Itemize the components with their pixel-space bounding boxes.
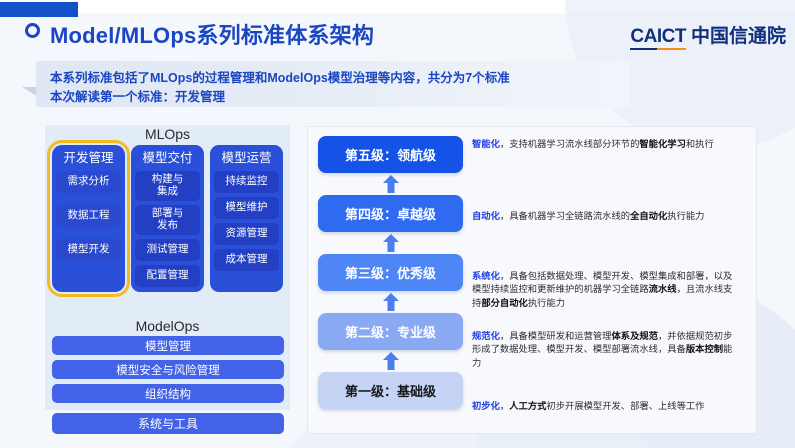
maturity-description-2: 规范化，具备模型研发和运营管理体系及规范，并依据规范初步形成了数据处理、模型开发… [472, 330, 740, 370]
subtitle-banner: 本系列标准包括了MLOps的过程管理和ModelOps模型治理等内容，共分为7个… [22, 61, 630, 107]
page-title: Model/MLOps系列标准体系架构 [50, 18, 374, 50]
mlops-item[interactable]: 配置管理 [135, 265, 200, 287]
maturity-level-4[interactable]: 第四级：卓越级 [318, 195, 463, 232]
mlops-item[interactable]: 成本管理 [214, 249, 279, 271]
maturity-levels: 第五级：领航级第四级：卓越级第三级：优秀级第二级：专业级第一级：基础级 [318, 136, 463, 409]
mlops-column-title: 开发管理 [56, 149, 121, 171]
mlops-item[interactable]: 资源管理 [214, 223, 279, 245]
caict-logo: CAICT 中国信通院 [630, 27, 786, 50]
mlops-column-3[interactable]: 模型运营持续监控模型维护资源管理成本管理 [210, 145, 283, 292]
mlops-item[interactable]: 持续监控 [214, 171, 279, 193]
subtitle-line-1: 本系列标准包括了MLOps的过程管理和ModelOps模型治理等内容，共分为7个… [50, 67, 510, 86]
slide: Model/MLOps系列标准体系架构 CAICT 中国信通院 本系列标准包括了… [0, 0, 795, 448]
mlops-item[interactable]: 测试管理 [135, 239, 200, 261]
logo-mark-text: CAICT [630, 27, 686, 50]
slide-header: Model/MLOps系列标准体系架构 CAICT 中国信通院 [0, 14, 795, 48]
logo-mark-label: CAICT [630, 26, 686, 47]
up-arrow-icon [318, 291, 463, 313]
mlops-item[interactable]: 部署与发布 [135, 205, 200, 235]
maturity-description-5: 智能化，支持机器学习流水线部分环节的智能化学习和执行 [472, 138, 740, 151]
system-tools-row[interactable]: 系统与工具 [52, 413, 284, 434]
maturity-level-1[interactable]: 第一级：基础级 [318, 372, 463, 409]
mlops-item[interactable]: 需求分析 [56, 171, 121, 193]
ring-bullet-icon [25, 23, 40, 38]
up-arrow-icon [318, 232, 463, 254]
maturity-level-2[interactable]: 第二级：专业级 [318, 313, 463, 350]
mlops-item[interactable]: 数据工程 [56, 205, 121, 227]
maturity-level-5[interactable]: 第五级：领航级 [318, 136, 463, 173]
mlops-column-title: 模型运营 [214, 149, 279, 171]
maturity-description-3: 系统化，具备包括数据处理、模型开发、模型集成和部署，以及模型持续监控和更新维护的… [472, 270, 740, 310]
up-arrow-icon [318, 350, 463, 372]
modelops-list: 模型管理模型安全与风险管理组织结构 [52, 336, 284, 408]
modelops-caption: ModelOps [45, 318, 290, 334]
logo-underline [630, 48, 686, 51]
mlops-caption: MLOps [45, 126, 290, 142]
modelops-item[interactable]: 组织结构 [52, 384, 284, 403]
maturity-description-1: 初步化，人工方式初步开展模型开发、部署、上线等工作 [472, 400, 740, 413]
mlops-column-title: 模型交付 [135, 149, 200, 171]
maturity-description-4: 自动化，具备机器学习全链路流水线的全自动化执行能力 [472, 210, 740, 223]
subtitle-line-2: 本次解读第一个标准：开发管理 [50, 86, 225, 105]
maturity-level-3[interactable]: 第三级：优秀级 [318, 254, 463, 291]
mlops-item[interactable]: 构建与集成 [135, 171, 200, 201]
modelops-item[interactable]: 模型安全与风险管理 [52, 360, 284, 379]
mlops-item[interactable]: 模型维护 [214, 197, 279, 219]
mlops-column-1[interactable]: 开发管理需求分析数据工程模型开发 [52, 145, 125, 292]
logo-name-label: 中国信通院 [691, 27, 786, 46]
mlops-item[interactable]: 模型开发 [56, 239, 121, 261]
mlops-columns: 开发管理需求分析数据工程模型开发模型交付构建与集成部署与发布测试管理配置管理模型… [52, 145, 284, 292]
mlops-column-2[interactable]: 模型交付构建与集成部署与发布测试管理配置管理 [131, 145, 204, 292]
up-arrow-icon [318, 173, 463, 195]
modelops-item[interactable]: 模型管理 [52, 336, 284, 355]
